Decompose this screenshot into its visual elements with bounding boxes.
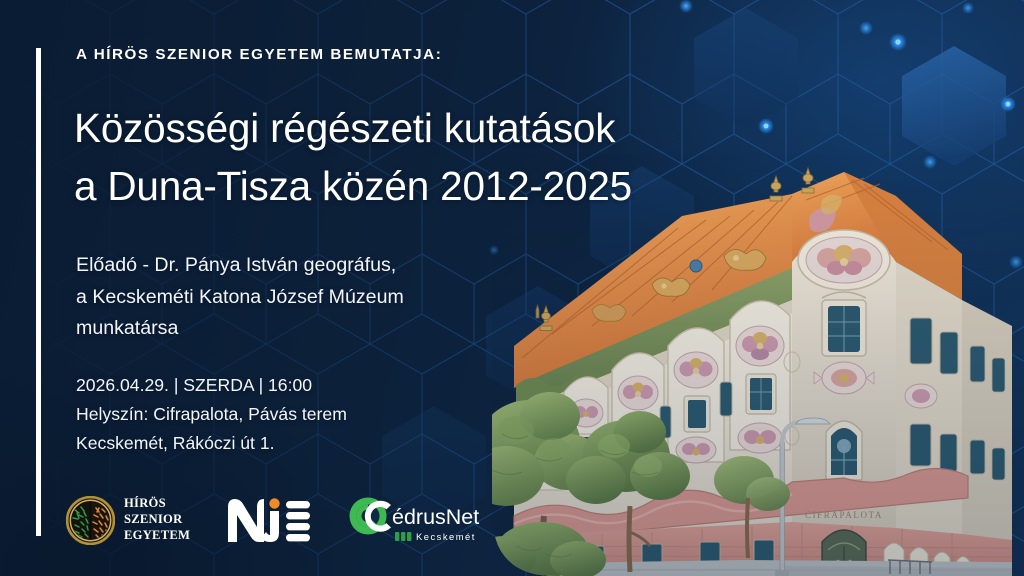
nje-logo[interactable] xyxy=(226,497,312,544)
kicker-text: A HÍRÖS SZENIOR EGYETEM BEMUTATJA: xyxy=(76,46,442,63)
event-datetime: 2026.04.29. | SZERDA | 16:00 xyxy=(76,371,347,400)
cedrusnet-wordmark: édrusNet xyxy=(392,505,479,529)
hiros-wordmark: HÍRÖS SZENIOR EGYETEM xyxy=(124,496,190,543)
speaker-line-1: Előadó - Dr. Pánya István geográfus, xyxy=(76,250,404,282)
event-details-block: 2026.04.29. | SZERDA | 16:00 Helyszín: C… xyxy=(76,371,347,459)
event-venue: Helyszín: Cifrapalota, Pávás terem xyxy=(76,400,347,429)
cedrusnet-logo[interactable]: édrusNet Kecskemét xyxy=(345,496,487,544)
logo-row: HÍRÖS SZENIOR EGYETEM xyxy=(66,491,487,549)
hiros-line-2: SZENIOR xyxy=(124,512,190,528)
hiros-szenior-egyetem-logo[interactable]: HÍRÖS SZENIOR EGYETEM xyxy=(66,496,190,545)
hiros-line-1: HÍRÖS xyxy=(124,496,190,512)
cedrusnet-mark-icon: édrusNet Kecskemét xyxy=(345,496,487,544)
event-poster: CIFRAPALOTA xyxy=(0,0,1024,576)
nje-mark-icon xyxy=(226,497,312,544)
speaker-line-3: munkatársa xyxy=(76,313,404,345)
event-address: Kecskemét, Rákóczi út 1. xyxy=(76,429,347,458)
speaker-block: Előadó - Dr. Pánya István geográfus, a K… xyxy=(76,250,404,345)
hiros-seal-icon xyxy=(66,496,115,545)
cedrusnet-subtitle: Kecskemét xyxy=(416,531,476,542)
hiros-line-3: EGYETEM xyxy=(124,528,190,544)
speaker-line-2: a Kecskeméti Katona József Múzeum xyxy=(76,282,404,314)
title-line-2: a Duna-Tisza közén 2012-2025 xyxy=(74,158,632,216)
title-line-1: Közösségi régészeti kutatások xyxy=(74,100,632,158)
page-title: Közösségi régészeti kutatások a Duna-Tis… xyxy=(74,100,632,215)
accent-rule xyxy=(36,48,41,536)
